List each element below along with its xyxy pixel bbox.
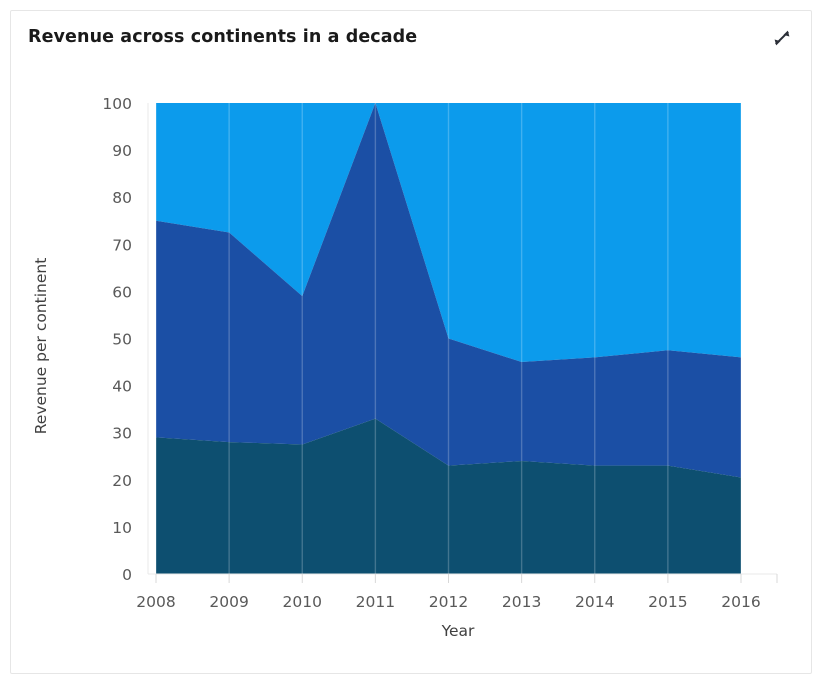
chart-card: Revenue across continents in a decade <box>10 10 812 674</box>
y-tick-label: 40 <box>112 378 132 396</box>
y-tick-label: 90 <box>112 142 132 160</box>
x-tick-marks <box>156 574 777 583</box>
y-tick-label: 60 <box>112 283 132 301</box>
x-axis-title: Year <box>441 622 475 640</box>
x-tick-label: 2012 <box>429 593 468 611</box>
x-tick-label: 2009 <box>209 593 248 611</box>
y-tick-label: 100 <box>102 95 132 113</box>
y-axis-tick-labels: 0102030405060708090100 <box>102 95 132 584</box>
x-tick-label: 2011 <box>356 593 395 611</box>
x-tick-label: 2015 <box>648 593 687 611</box>
y-tick-label: 10 <box>112 519 132 537</box>
y-tick-label: 70 <box>112 236 132 254</box>
x-tick-label: 2008 <box>136 593 175 611</box>
y-tick-label: 0 <box>122 566 132 584</box>
x-tick-label: 2014 <box>575 593 614 611</box>
y-axis-title: Revenue per continent <box>32 258 50 435</box>
x-tick-label: 2010 <box>283 593 322 611</box>
x-tick-label: 2013 <box>502 593 541 611</box>
y-tick-label: 80 <box>112 189 132 207</box>
y-tick-label: 50 <box>112 331 132 349</box>
x-axis-tick-labels: 200820092010201120122013201420152016 <box>136 593 760 611</box>
stacked-area-chart: 0102030405060708090100 20082009201020112… <box>11 11 813 675</box>
plot-area: 0102030405060708090100 20082009201020112… <box>11 11 813 675</box>
y-tick-label: 30 <box>112 425 132 443</box>
y-tick-label: 20 <box>112 472 132 490</box>
x-tick-label: 2016 <box>721 593 760 611</box>
